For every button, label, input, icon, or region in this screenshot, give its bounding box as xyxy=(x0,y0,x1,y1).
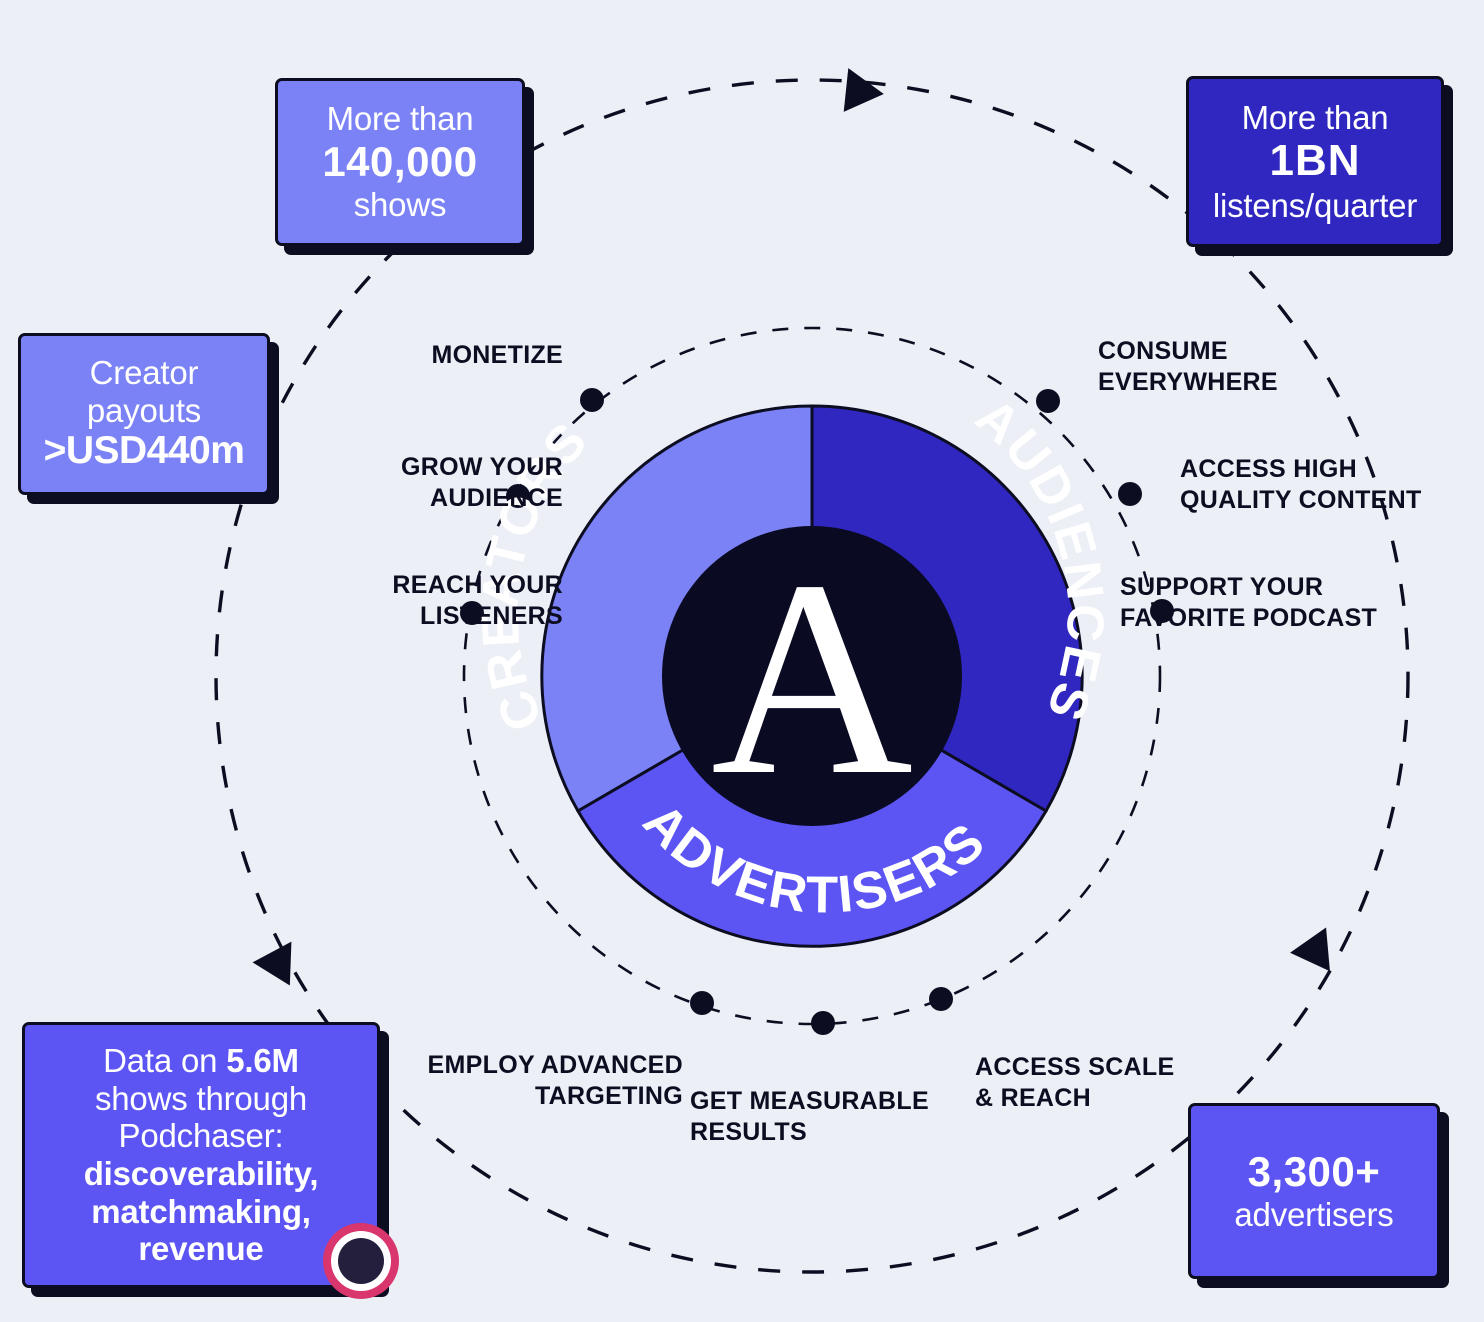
callout-shows-value: 140,000 xyxy=(322,138,477,186)
node-dot-access-scale xyxy=(929,987,953,1011)
callout-shows-line1: More than xyxy=(327,100,474,138)
spoke-label-grow-audience: GROW YOUR AUDIENCE xyxy=(128,452,563,513)
callout-listens-line1: More than xyxy=(1242,99,1389,137)
callout-advertisers-value: 3,300+ xyxy=(1248,1148,1381,1196)
callout-podchaser-line3: Podchaser: xyxy=(119,1117,284,1155)
spoke-label-access-quality-content: ACCESS HIGH QUALITY CONTENT xyxy=(1180,454,1484,515)
node-dot-monetize xyxy=(580,388,604,412)
podchaser-logo-inner-ring xyxy=(331,1231,391,1291)
spoke-label-reach-listeners: REACH YOUR LISTENERS xyxy=(78,570,563,631)
spoke-label-consume-everywhere: CONSUME EVERYWHERE xyxy=(1098,336,1484,397)
callout-listens-line3: listens/quarter xyxy=(1213,187,1417,225)
spoke-label-monetize: MONETIZE xyxy=(178,340,563,371)
callout-podchaser-line5: matchmaking, xyxy=(91,1193,311,1231)
spoke-label-employ-advanced-targeting: EMPLOY ADVANCED TARGETING xyxy=(380,1050,683,1111)
diagram-canvas: CREATORS AUDIENCES ADVERTISERS A More th… xyxy=(0,0,1484,1322)
node-dot-measurable-results xyxy=(811,1011,835,1035)
center-letter: A xyxy=(711,522,913,833)
flow-arrow-left xyxy=(253,942,310,996)
callout-shows: More than 140,000 shows xyxy=(275,78,525,246)
flow-arrow-right xyxy=(1290,918,1346,971)
callout-listens-value: 1BN xyxy=(1269,136,1360,186)
callout-podchaser-line2: shows through xyxy=(95,1080,307,1118)
spoke-label-get-measurable-results: GET MEASURABLE RESULTS xyxy=(690,1086,935,1147)
callout-podchaser-line4: discoverability, xyxy=(84,1155,319,1193)
node-dot-employ-targeting xyxy=(690,991,714,1015)
node-dot-access-quality xyxy=(1118,482,1142,506)
callout-podchaser-line6: revenue xyxy=(138,1230,263,1268)
callout-podchaser-data: Data on 5.6M shows through Podchaser: di… xyxy=(22,1022,380,1288)
spoke-label-access-scale-reach: ACCESS SCALE & REACH xyxy=(975,1052,1235,1113)
callout-shows-line3: shows xyxy=(354,186,447,224)
callout-podchaser-line1a: Data on xyxy=(103,1042,226,1079)
spoke-label-support-favorite-podcast: SUPPORT YOUR FAVORITE PODCAST xyxy=(1120,572,1470,633)
callout-payouts-line2: payouts xyxy=(87,392,201,430)
flow-arrow-top xyxy=(844,68,886,116)
callout-podchaser-line1: Data on 5.6M xyxy=(103,1042,299,1080)
node-dot-consume-everywhere xyxy=(1036,389,1060,413)
callout-advertisers-line2: advertisers xyxy=(1234,1196,1393,1234)
callout-podchaser-line1b: 5.6M xyxy=(226,1042,299,1079)
podchaser-logo-icon xyxy=(323,1223,399,1299)
callout-advertisers: 3,300+ advertisers xyxy=(1188,1103,1440,1279)
podchaser-logo-core xyxy=(338,1238,384,1284)
callout-listens: More than 1BN listens/quarter xyxy=(1186,76,1444,247)
